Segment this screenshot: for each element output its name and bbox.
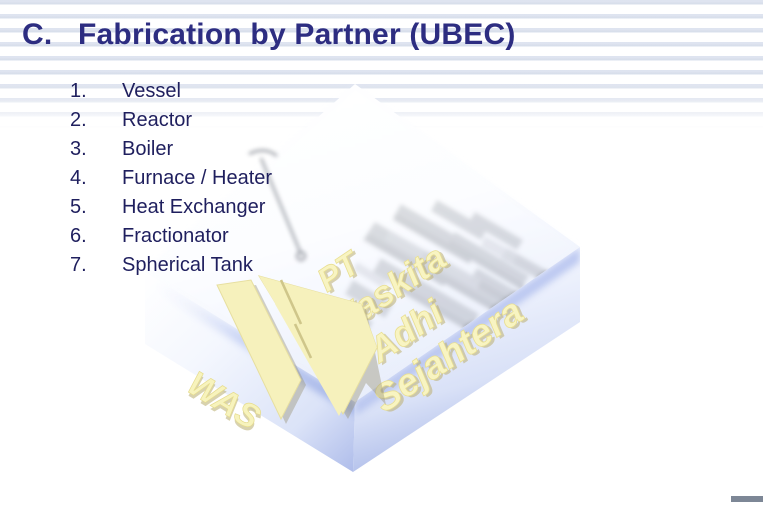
list-item-label: Furnace / Heater	[122, 167, 272, 190]
slide-canvas: WAS WAS PT PT Waskita Waskita	[0, 0, 763, 505]
list-item-label: Reactor	[122, 109, 192, 132]
page-title: C. Fabrication by Partner (UBEC)	[22, 17, 722, 53]
list-item-label: Vessel	[122, 80, 181, 103]
footer-marker	[731, 496, 763, 502]
list-item-number: 5.	[70, 196, 122, 219]
list-item-number: 3.	[70, 138, 122, 161]
list-item-label: Heat Exchanger	[122, 196, 265, 219]
list-item: 3. Boiler	[70, 138, 400, 167]
list-item: 6. Fractionator	[70, 225, 400, 254]
list-item: 2. Reactor	[70, 109, 400, 138]
list-item-label: Fractionator	[122, 225, 229, 248]
list-item-number: 7.	[70, 254, 122, 277]
list-item: 5. Heat Exchanger	[70, 196, 400, 225]
list-item: 7. Spherical Tank	[70, 254, 400, 283]
list-item-number: 6.	[70, 225, 122, 248]
list-item: 1. Vessel	[70, 80, 400, 109]
list-item-label: Spherical Tank	[122, 254, 253, 277]
list-item: 4. Furnace / Heater	[70, 167, 400, 196]
equipment-list: 1. Vessel 2. Reactor 3. Boiler 4. Furnac…	[70, 80, 400, 283]
list-item-number: 2.	[70, 109, 122, 132]
list-item-number: 1.	[70, 80, 122, 103]
list-item-label: Boiler	[122, 138, 173, 161]
list-item-number: 4.	[70, 167, 122, 190]
